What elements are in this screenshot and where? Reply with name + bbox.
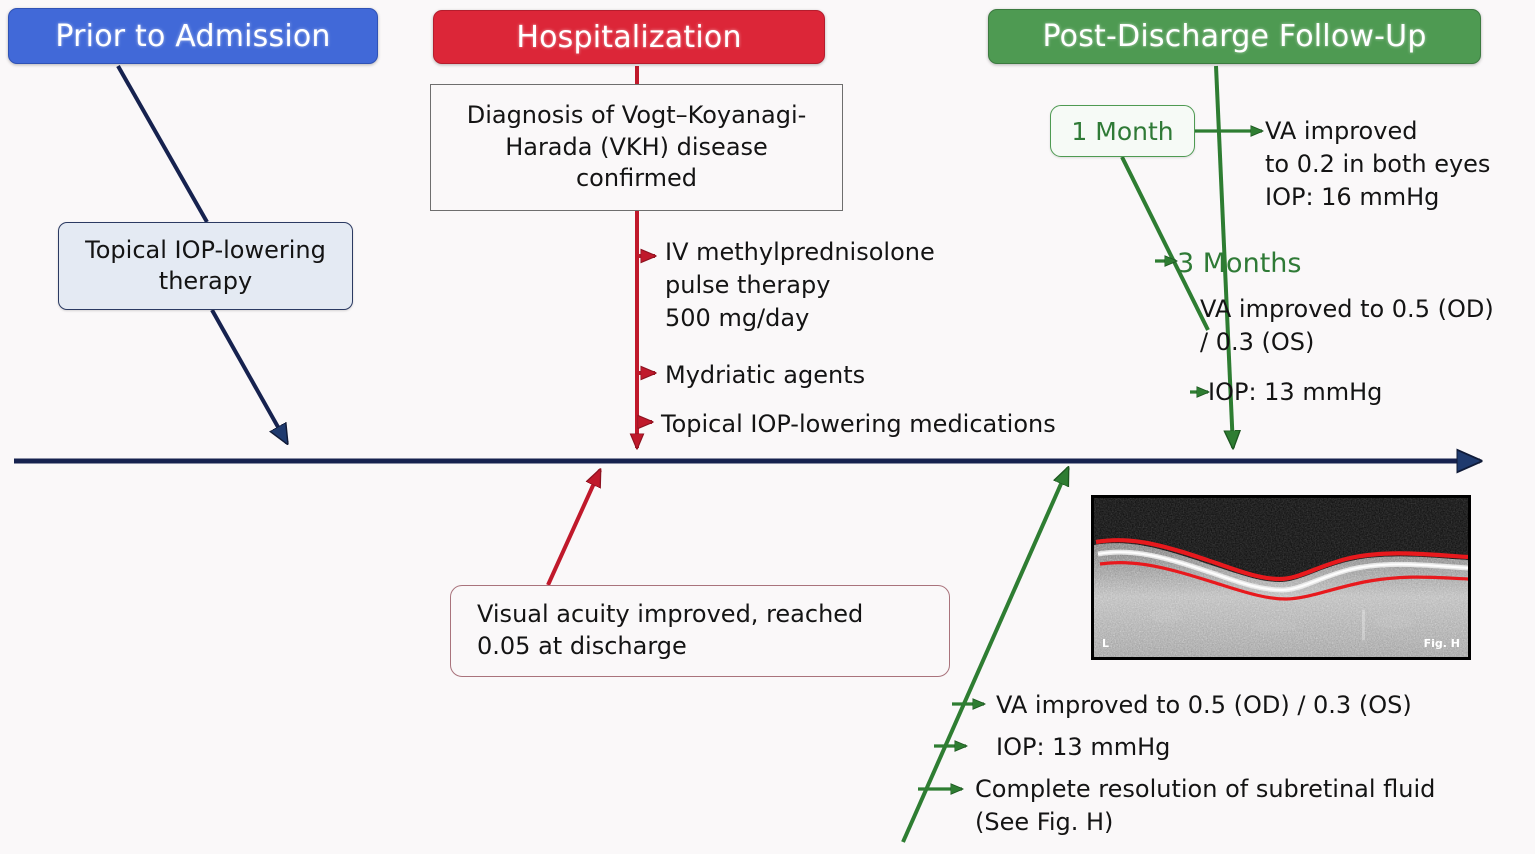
topical-iop-therapy-label: Topical IOP-lowering therapy: [85, 235, 326, 296]
topical-iop-therapy-box[interactable]: Topical IOP-lowering therapy: [58, 222, 353, 310]
discharge-visual-acuity-label: Visual acuity improved, reached 0.05 at …: [477, 599, 863, 662]
one-month-milestone-box[interactable]: 1 Month: [1050, 105, 1195, 157]
phase-header-prior-to-admission[interactable]: Prior to Admission: [8, 8, 378, 64]
phase-header-label: Prior to Admission: [55, 19, 330, 54]
treatment-iv-methylprednisolone: IV methylprednisolone pulse therapy 500 …: [665, 236, 1005, 335]
phase-header-label: Post-Discharge Follow-Up: [1042, 19, 1426, 54]
followup-outcome-subretinal-fluid: Complete resolution of subretinal fluid …: [975, 773, 1485, 839]
followup-outcome-iop: IOP: 13 mmHg: [996, 731, 1296, 764]
phase-header-hospitalization[interactable]: Hospitalization: [433, 10, 825, 64]
timeline-diagram: Prior to Admission Hospitalization Post-…: [0, 0, 1535, 854]
diagnosis-box[interactable]: Diagnosis of Vogt–Koyanagi- Harada (VKH)…: [430, 84, 843, 211]
followup-outcome-visual-acuity: VA improved to 0.5 (OD) / 0.3 (OS): [996, 689, 1466, 722]
phase-header-post-discharge[interactable]: Post-Discharge Follow-Up: [988, 9, 1481, 64]
phase-header-label: Hospitalization: [516, 20, 741, 55]
one-month-results: VA improved to 0.2 in both eyes IOP: 16 …: [1265, 115, 1525, 214]
treatment-topical-iop-medications: Topical IOP-lowering medications: [661, 408, 1131, 441]
oct-laterality-marker: L: [1102, 637, 1109, 650]
oct-figure-label: Fig. H: [1424, 637, 1460, 650]
three-months-visual-acuity: VA improved to 0.5 (OD) / 0.3 (OS): [1200, 293, 1530, 359]
one-month-milestone-label: 1 Month: [1071, 117, 1173, 146]
treatment-mydriatic-agents: Mydriatic agents: [665, 359, 1005, 392]
oct-scan-image: [1094, 498, 1468, 657]
diagnosis-label: Diagnosis of Vogt–Koyanagi- Harada (VKH)…: [467, 100, 807, 195]
oct-scan-figure[interactable]: L Fig. H: [1091, 495, 1471, 660]
three-months-iop: IOP: 13 mmHg: [1208, 376, 1458, 409]
three-months-milestone-label: 3 Months: [1177, 245, 1301, 282]
discharge-visual-acuity-box[interactable]: Visual acuity improved, reached 0.05 at …: [450, 585, 950, 677]
